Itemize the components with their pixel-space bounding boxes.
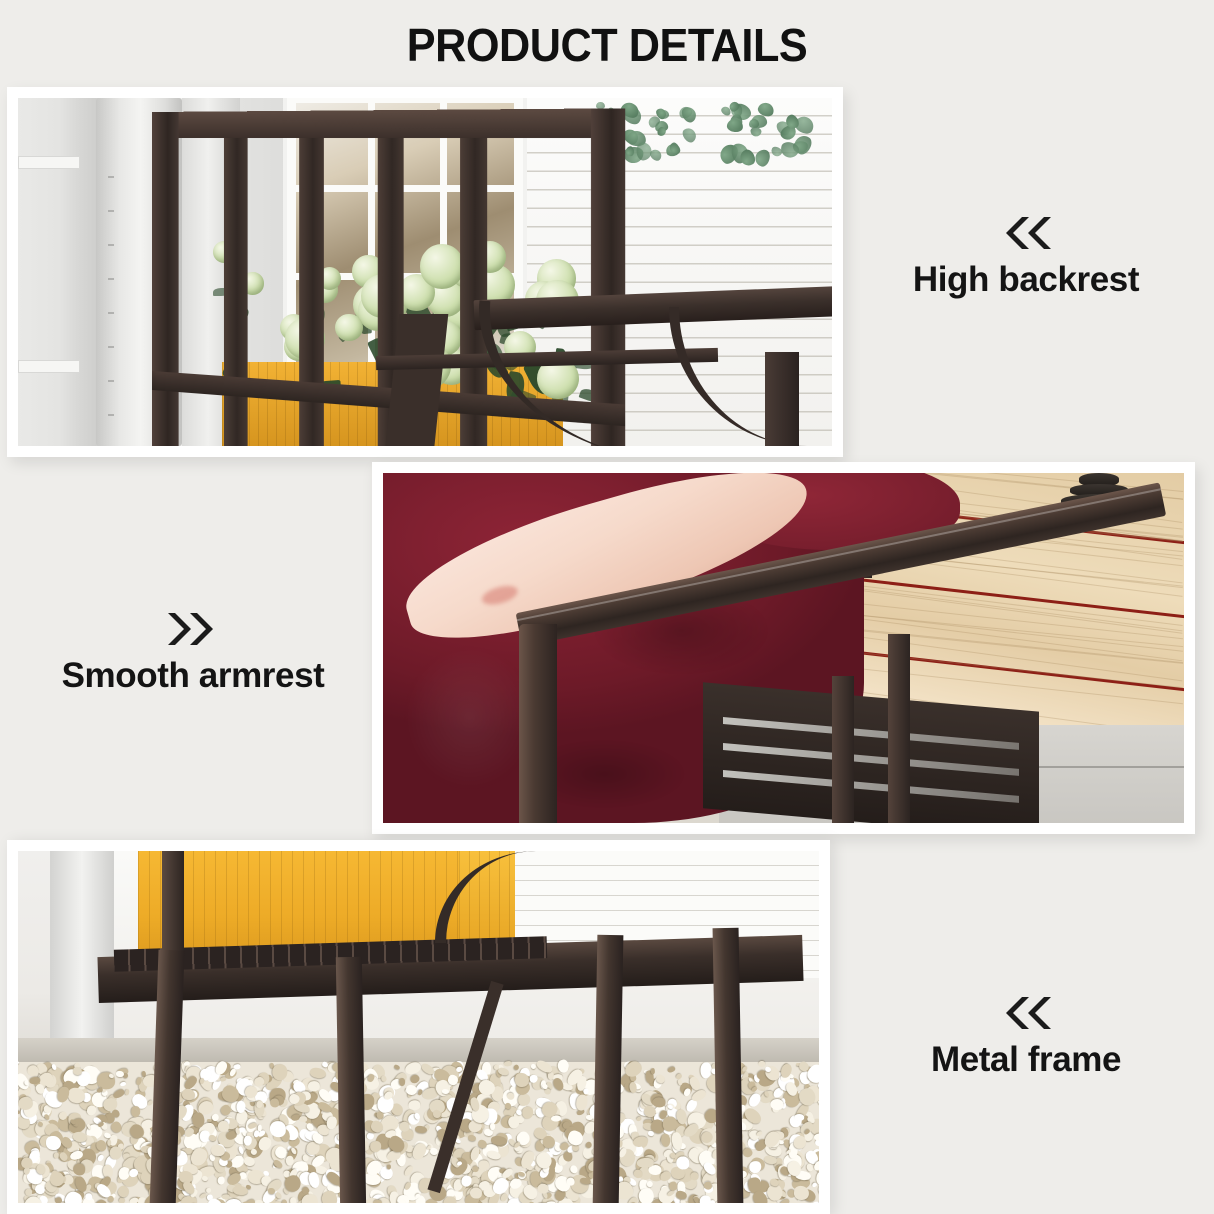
callout-label-smooth-armrest: Smooth armrest [38, 656, 348, 696]
product-photo-smooth-armrest [372, 462, 1195, 834]
chair-rear-leg [832, 676, 854, 823]
chair-front-leg [888, 634, 910, 823]
page-title: PRODUCT DETAILS [36, 18, 1177, 72]
double-chevron-right-icon [38, 612, 348, 646]
double-chevron-left-icon [896, 996, 1156, 1030]
wall-shelf-upper [18, 156, 80, 169]
photo-frame-metal-frame [18, 851, 819, 1203]
chair-leg-mid [336, 956, 366, 1203]
white-gravel-ground [18, 1062, 819, 1203]
photo-frame-smooth-armrest [383, 473, 1184, 823]
eucalyptus-vine [596, 102, 808, 172]
callout-metal-frame: Metal frame [896, 996, 1156, 1080]
double-chevron-left-icon [876, 216, 1176, 250]
callout-label-metal-frame: Metal frame [896, 1040, 1156, 1080]
chair-leg-front-right [592, 935, 623, 1203]
product-photo-metal-frame [7, 840, 830, 1214]
chair-back-post-left [162, 851, 184, 964]
wall-shelf-lower [18, 360, 80, 373]
callout-label-high-backrest: High backrest [876, 260, 1176, 300]
chair-rear-post [765, 352, 799, 446]
product-photo-high-backrest [7, 87, 843, 457]
callout-high-backrest: High backrest [876, 216, 1176, 300]
chair-armrest-front-post [519, 624, 557, 824]
chair-leg-rear-right [712, 928, 743, 1203]
photo-frame-high-backrest [18, 98, 832, 446]
callout-smooth-armrest: Smooth armrest [38, 612, 348, 696]
